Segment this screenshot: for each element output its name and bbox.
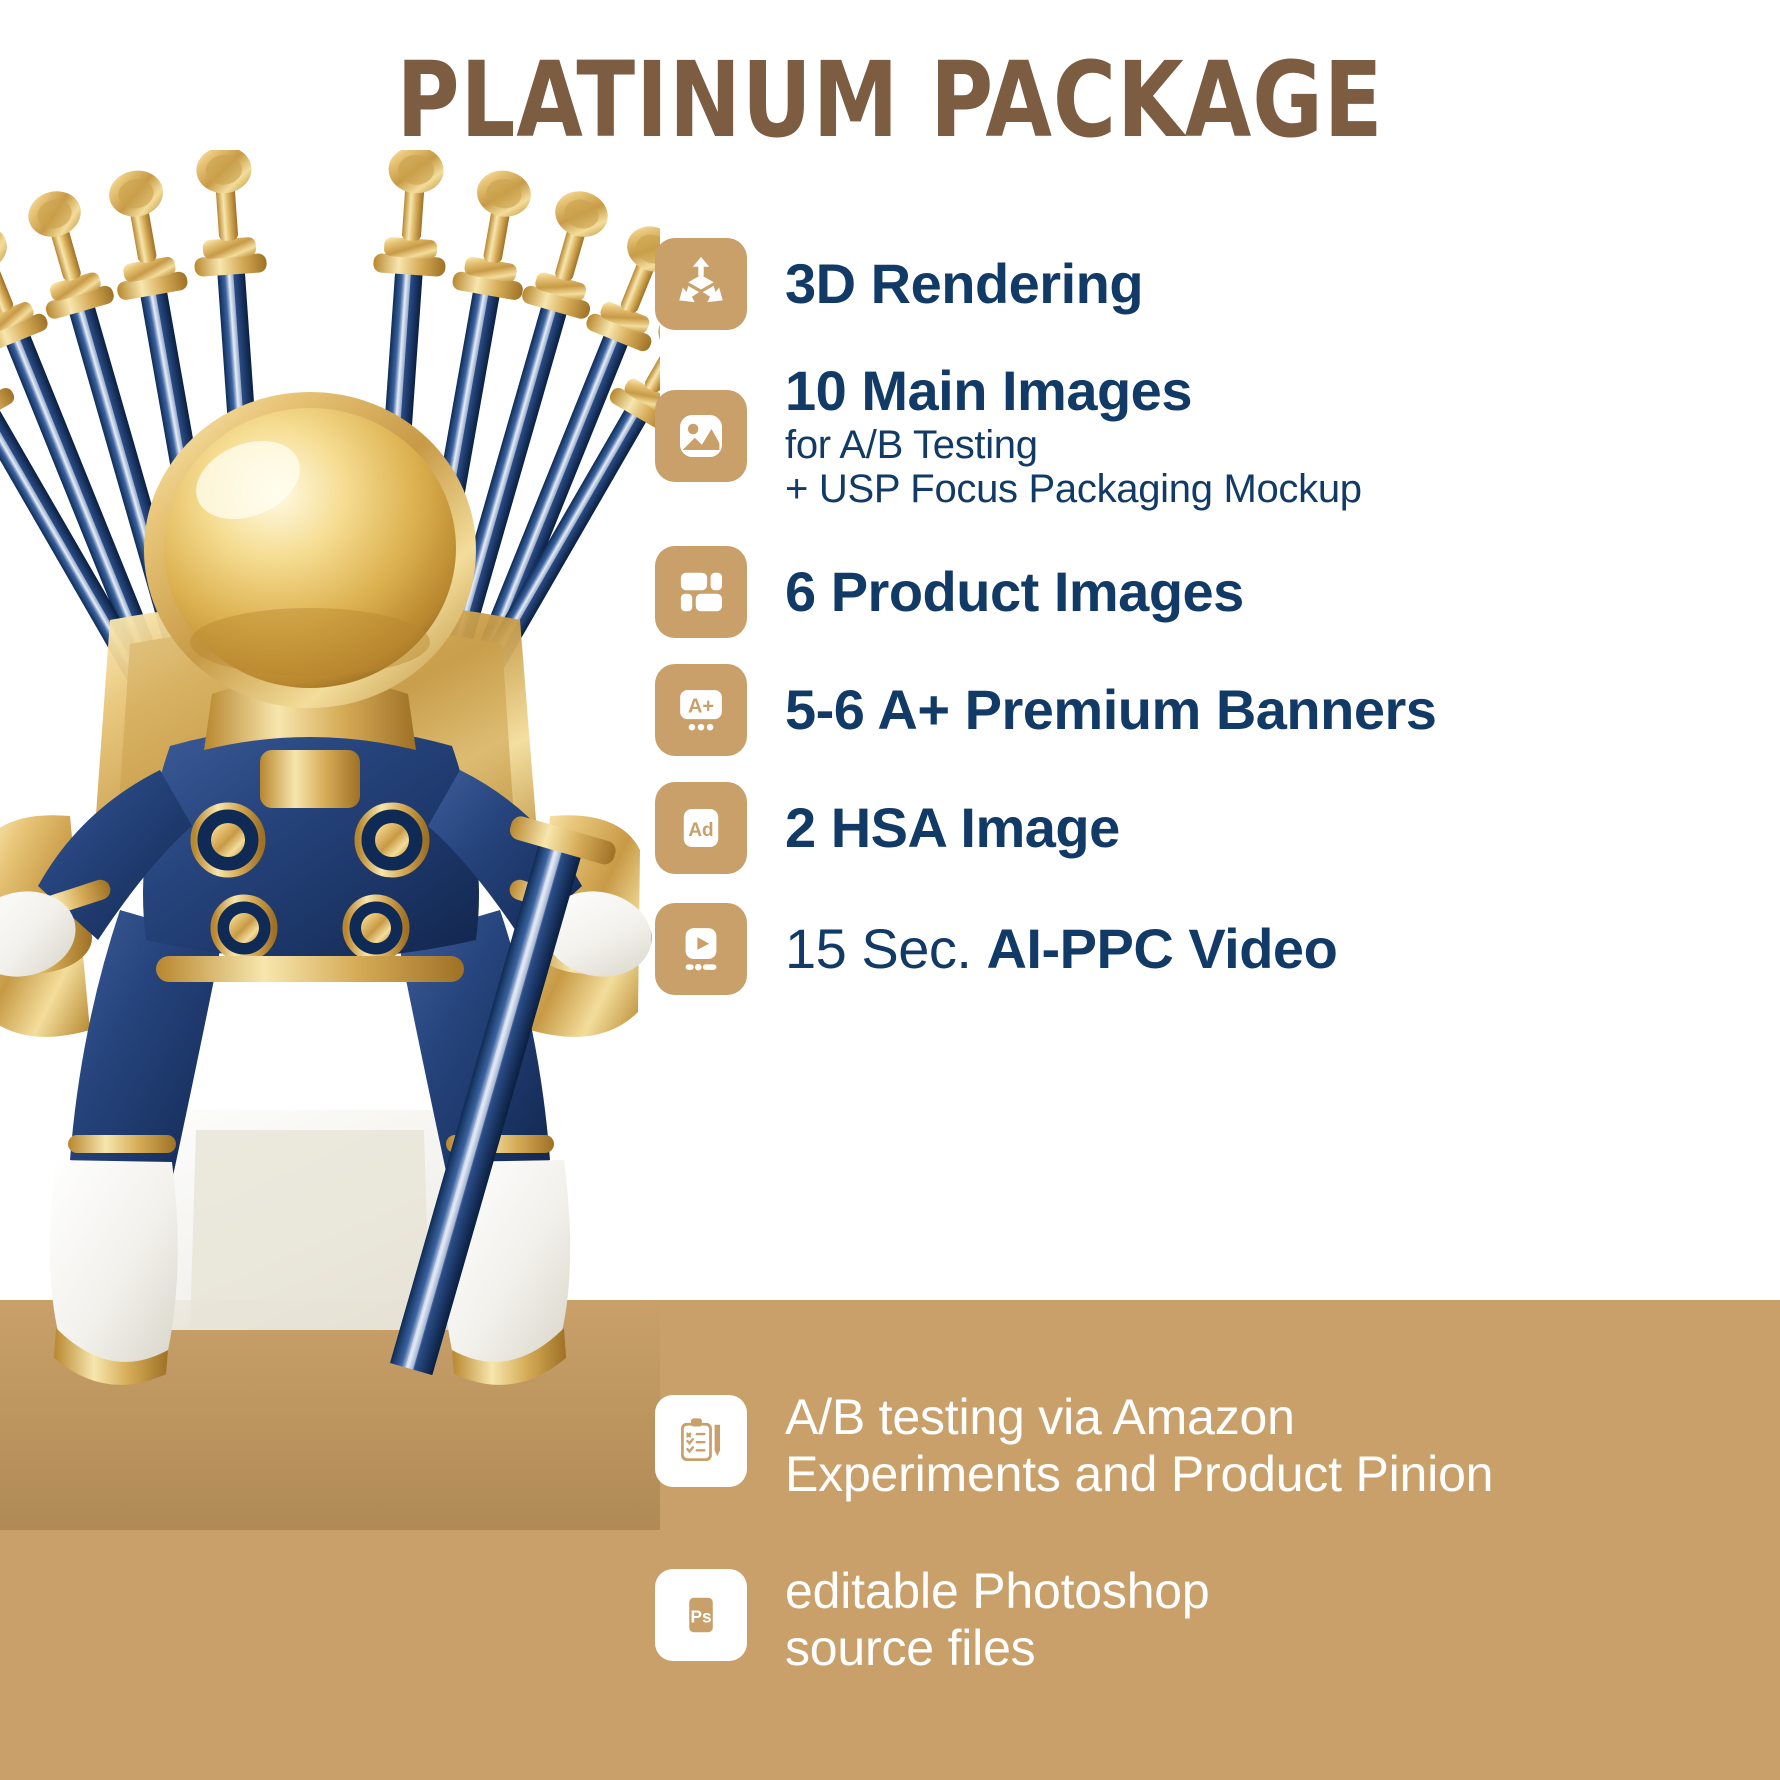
bottom-line-1: editable Photoshop <box>785 1563 1210 1620</box>
video-duration-label: 15 Sec. <box>785 917 986 980</box>
3d-cube-icon <box>655 238 747 330</box>
ad-icon-label: Ad <box>688 820 713 841</box>
grid-layout-icon <box>655 546 747 638</box>
feature-subline-2: + USP Focus Packaging Mockup <box>785 469 1362 509</box>
ps-icon-label: Ps <box>690 1606 711 1626</box>
feature-row-aplus-banners[interactable]: A+ 5-6 A+ Premium Banners <box>655 654 1745 766</box>
video-play-icon <box>655 903 747 995</box>
feature-heading: 5-6 A+ Premium Banners <box>785 682 1436 738</box>
feature-heading: 15 Sec. AI-PPC Video <box>785 921 1337 977</box>
feature-text-product-images: 6 Product Images <box>785 564 1244 620</box>
feature-heading: 6 Product Images <box>785 564 1244 620</box>
bottom-line-2: Experiments and Product Pinion <box>785 1446 1493 1503</box>
bottom-line-1: A/B testing via Amazon <box>785 1389 1493 1446</box>
clipboard-checklist-icon <box>655 1395 747 1487</box>
ad-badge-icon: Ad <box>655 782 747 874</box>
bottom-text-ab-testing: A/B testing via Amazon Experiments and P… <box>785 1389 1493 1503</box>
bottom-row-ab-testing[interactable]: A/B testing via Amazon Experiments and P… <box>655 1395 1755 1503</box>
image-photo-icon <box>655 390 747 482</box>
video-title-label: AI-PPC Video <box>986 917 1337 980</box>
feature-subline-1: for A/B Testing <box>785 425 1362 465</box>
feature-heading: 2 HSA Image <box>785 800 1120 856</box>
bottom-text-photoshop-files: editable Photoshop source files <box>785 1563 1210 1677</box>
feature-row-ai-ppc-video[interactable]: 15 Sec. AI-PPC Video <box>655 890 1745 1008</box>
feature-row-main-images[interactable]: 10 Main Images for A/B Testing + USP Foc… <box>655 342 1745 530</box>
poster-canvas: PLATINUM PACKAGE <box>0 0 1780 1780</box>
feature-text-ai-ppc-video: 15 Sec. AI-PPC Video <box>785 921 1337 977</box>
feature-heading: 10 Main Images <box>785 363 1362 419</box>
bottom-line-2: source files <box>785 1620 1210 1677</box>
bottom-feature-list: A/B testing via Amazon Experiments and P… <box>655 1395 1755 1743</box>
feature-text-3d-rendering: 3D Rendering <box>785 256 1143 312</box>
feature-text-aplus-banners: 5-6 A+ Premium Banners <box>785 682 1436 738</box>
a-plus-banner-icon: A+ <box>655 664 747 756</box>
page-title: PLATINUM PACKAGE <box>71 48 1709 152</box>
bottom-row-photoshop-files[interactable]: Ps editable Photoshop source files <box>655 1569 1755 1677</box>
feature-list: 3D Rendering 10 Main Images for A/B Test… <box>655 232 1745 1014</box>
feature-text-main-images: 10 Main Images for A/B Testing + USP Foc… <box>785 363 1362 509</box>
photoshop-ps-icon: Ps <box>655 1569 747 1661</box>
feature-row-hsa-image[interactable]: Ad 2 HSA Image <box>655 772 1745 884</box>
feature-text-hsa-image: 2 HSA Image <box>785 800 1120 856</box>
feature-row-3d-rendering[interactable]: 3D Rendering <box>655 232 1745 336</box>
feature-heading: 3D Rendering <box>785 256 1143 312</box>
a-plus-icon-label: A+ <box>688 696 714 718</box>
feature-row-product-images[interactable]: 6 Product Images <box>655 536 1745 648</box>
